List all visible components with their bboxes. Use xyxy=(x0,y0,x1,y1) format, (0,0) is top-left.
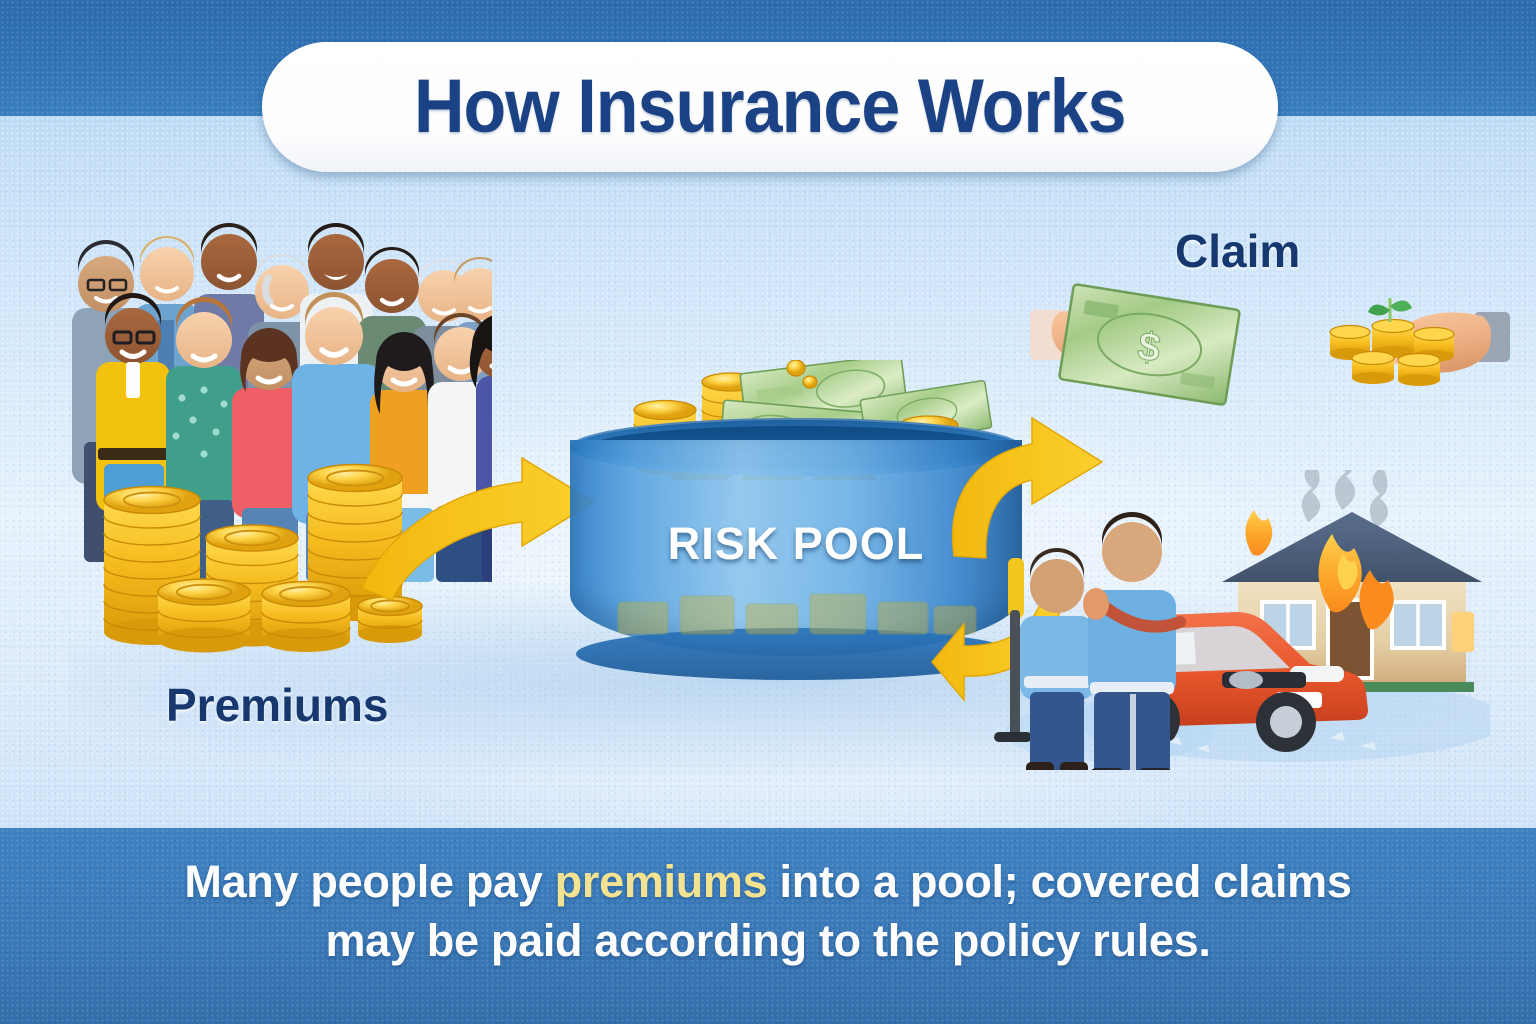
title-pill: How Insurance Works xyxy=(262,42,1278,172)
person-arm-sling-icon xyxy=(1083,512,1180,770)
claim-label: Claim xyxy=(1175,224,1300,278)
coins-in-hand-icon xyxy=(1330,298,1454,386)
caption-line1-after: into a pool; covered claims xyxy=(767,856,1351,907)
caption-highlight-premiums: premiums xyxy=(555,856,768,907)
submerged-coins xyxy=(612,586,980,642)
caption-line-2: may be paid according to the policy rule… xyxy=(0,911,1536,970)
page-title: How Insurance Works xyxy=(414,69,1126,145)
dollar-bill-icon: $ xyxy=(1059,284,1240,405)
covered-losses-scene xyxy=(990,470,1490,770)
claim-payout-scene: $ xyxy=(1030,278,1510,408)
premiums-label: Premiums xyxy=(166,678,388,732)
loss-events-illustration xyxy=(990,470,1490,770)
sprout-icon xyxy=(1368,298,1412,322)
caption-text: Many people pay premiums into a pool; co… xyxy=(0,852,1536,971)
hands-exchanging-money: $ xyxy=(1030,278,1510,408)
caption-line-1: Many people pay premiums into a pool; co… xyxy=(0,852,1536,911)
pool-submerged-coins xyxy=(612,586,980,642)
infographic-poster: How Insurance Works xyxy=(0,0,1536,1024)
injured-person-crutch-icon xyxy=(994,548,1094,770)
caption-line1-before: Many people pay xyxy=(184,856,554,907)
